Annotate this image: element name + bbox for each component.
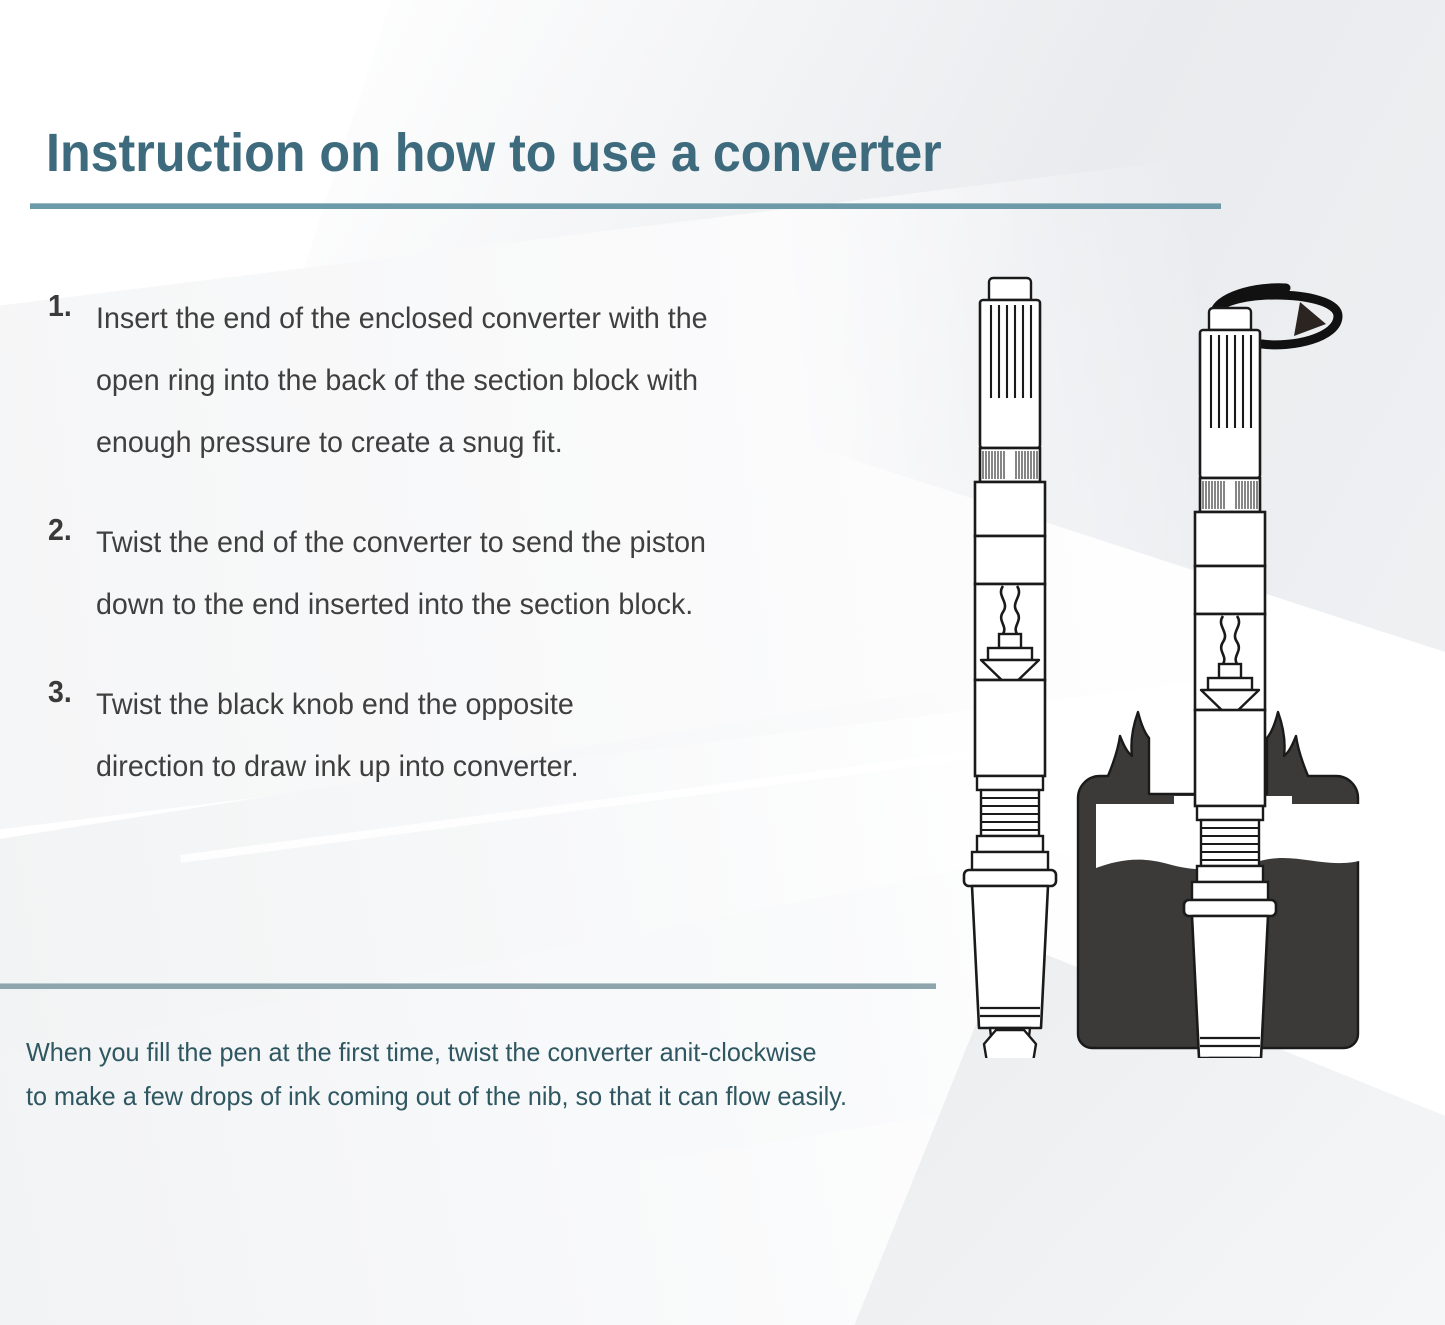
footer-note-line: When you fill the pen at the first time,… (26, 1030, 996, 1074)
converter-assembly (1195, 308, 1265, 806)
step-text-line: down to the end inserted into the sectio… (96, 574, 910, 636)
list-item: 1. Insert the end of the enclosed conver… (48, 288, 948, 474)
list-item: 2. Twist the end of the converter to sen… (48, 512, 948, 636)
right-pen-diagram (1184, 308, 1276, 1058)
step-text: Twist the black knob end the opposite di… (96, 674, 910, 798)
page-title: Instruction on how to use a converter (46, 126, 942, 180)
converter-illustration (940, 258, 1445, 1058)
step-text-line: enough pressure to create a snug fit. (96, 412, 910, 474)
step-text-line: Twist the black knob end the opposite (96, 674, 910, 736)
step-text-line: Twist the end of the converter to send t… (96, 512, 910, 574)
step-text-line: open ring into the back of the section b… (96, 350, 910, 412)
converter-assembly (975, 278, 1045, 776)
step-text: Twist the end of the converter to send t… (96, 512, 910, 636)
title-underline (30, 203, 1221, 209)
step-list: 1. Insert the end of the enclosed conver… (48, 288, 948, 836)
step-number: 3. (48, 674, 72, 710)
left-pen-diagram (964, 278, 1056, 1058)
step-text-line: Insert the end of the enclosed converter… (96, 288, 910, 350)
step-number: 2. (48, 512, 72, 548)
list-item: 3. Twist the black knob end the opposite… (48, 674, 948, 798)
footer-note-line: to make a few drops of ink coming out of… (26, 1074, 996, 1118)
footer-note: When you fill the pen at the first time,… (26, 1030, 996, 1118)
instruction-page: Instruction on how to use a converter 1.… (0, 0, 1445, 1325)
footer-divider (0, 983, 936, 989)
step-text-line: direction to draw ink up into converter. (96, 736, 910, 798)
pen-body-and-nib (964, 776, 1056, 1058)
step-text: Insert the end of the enclosed converter… (96, 288, 910, 474)
step-number: 1. (48, 288, 72, 324)
